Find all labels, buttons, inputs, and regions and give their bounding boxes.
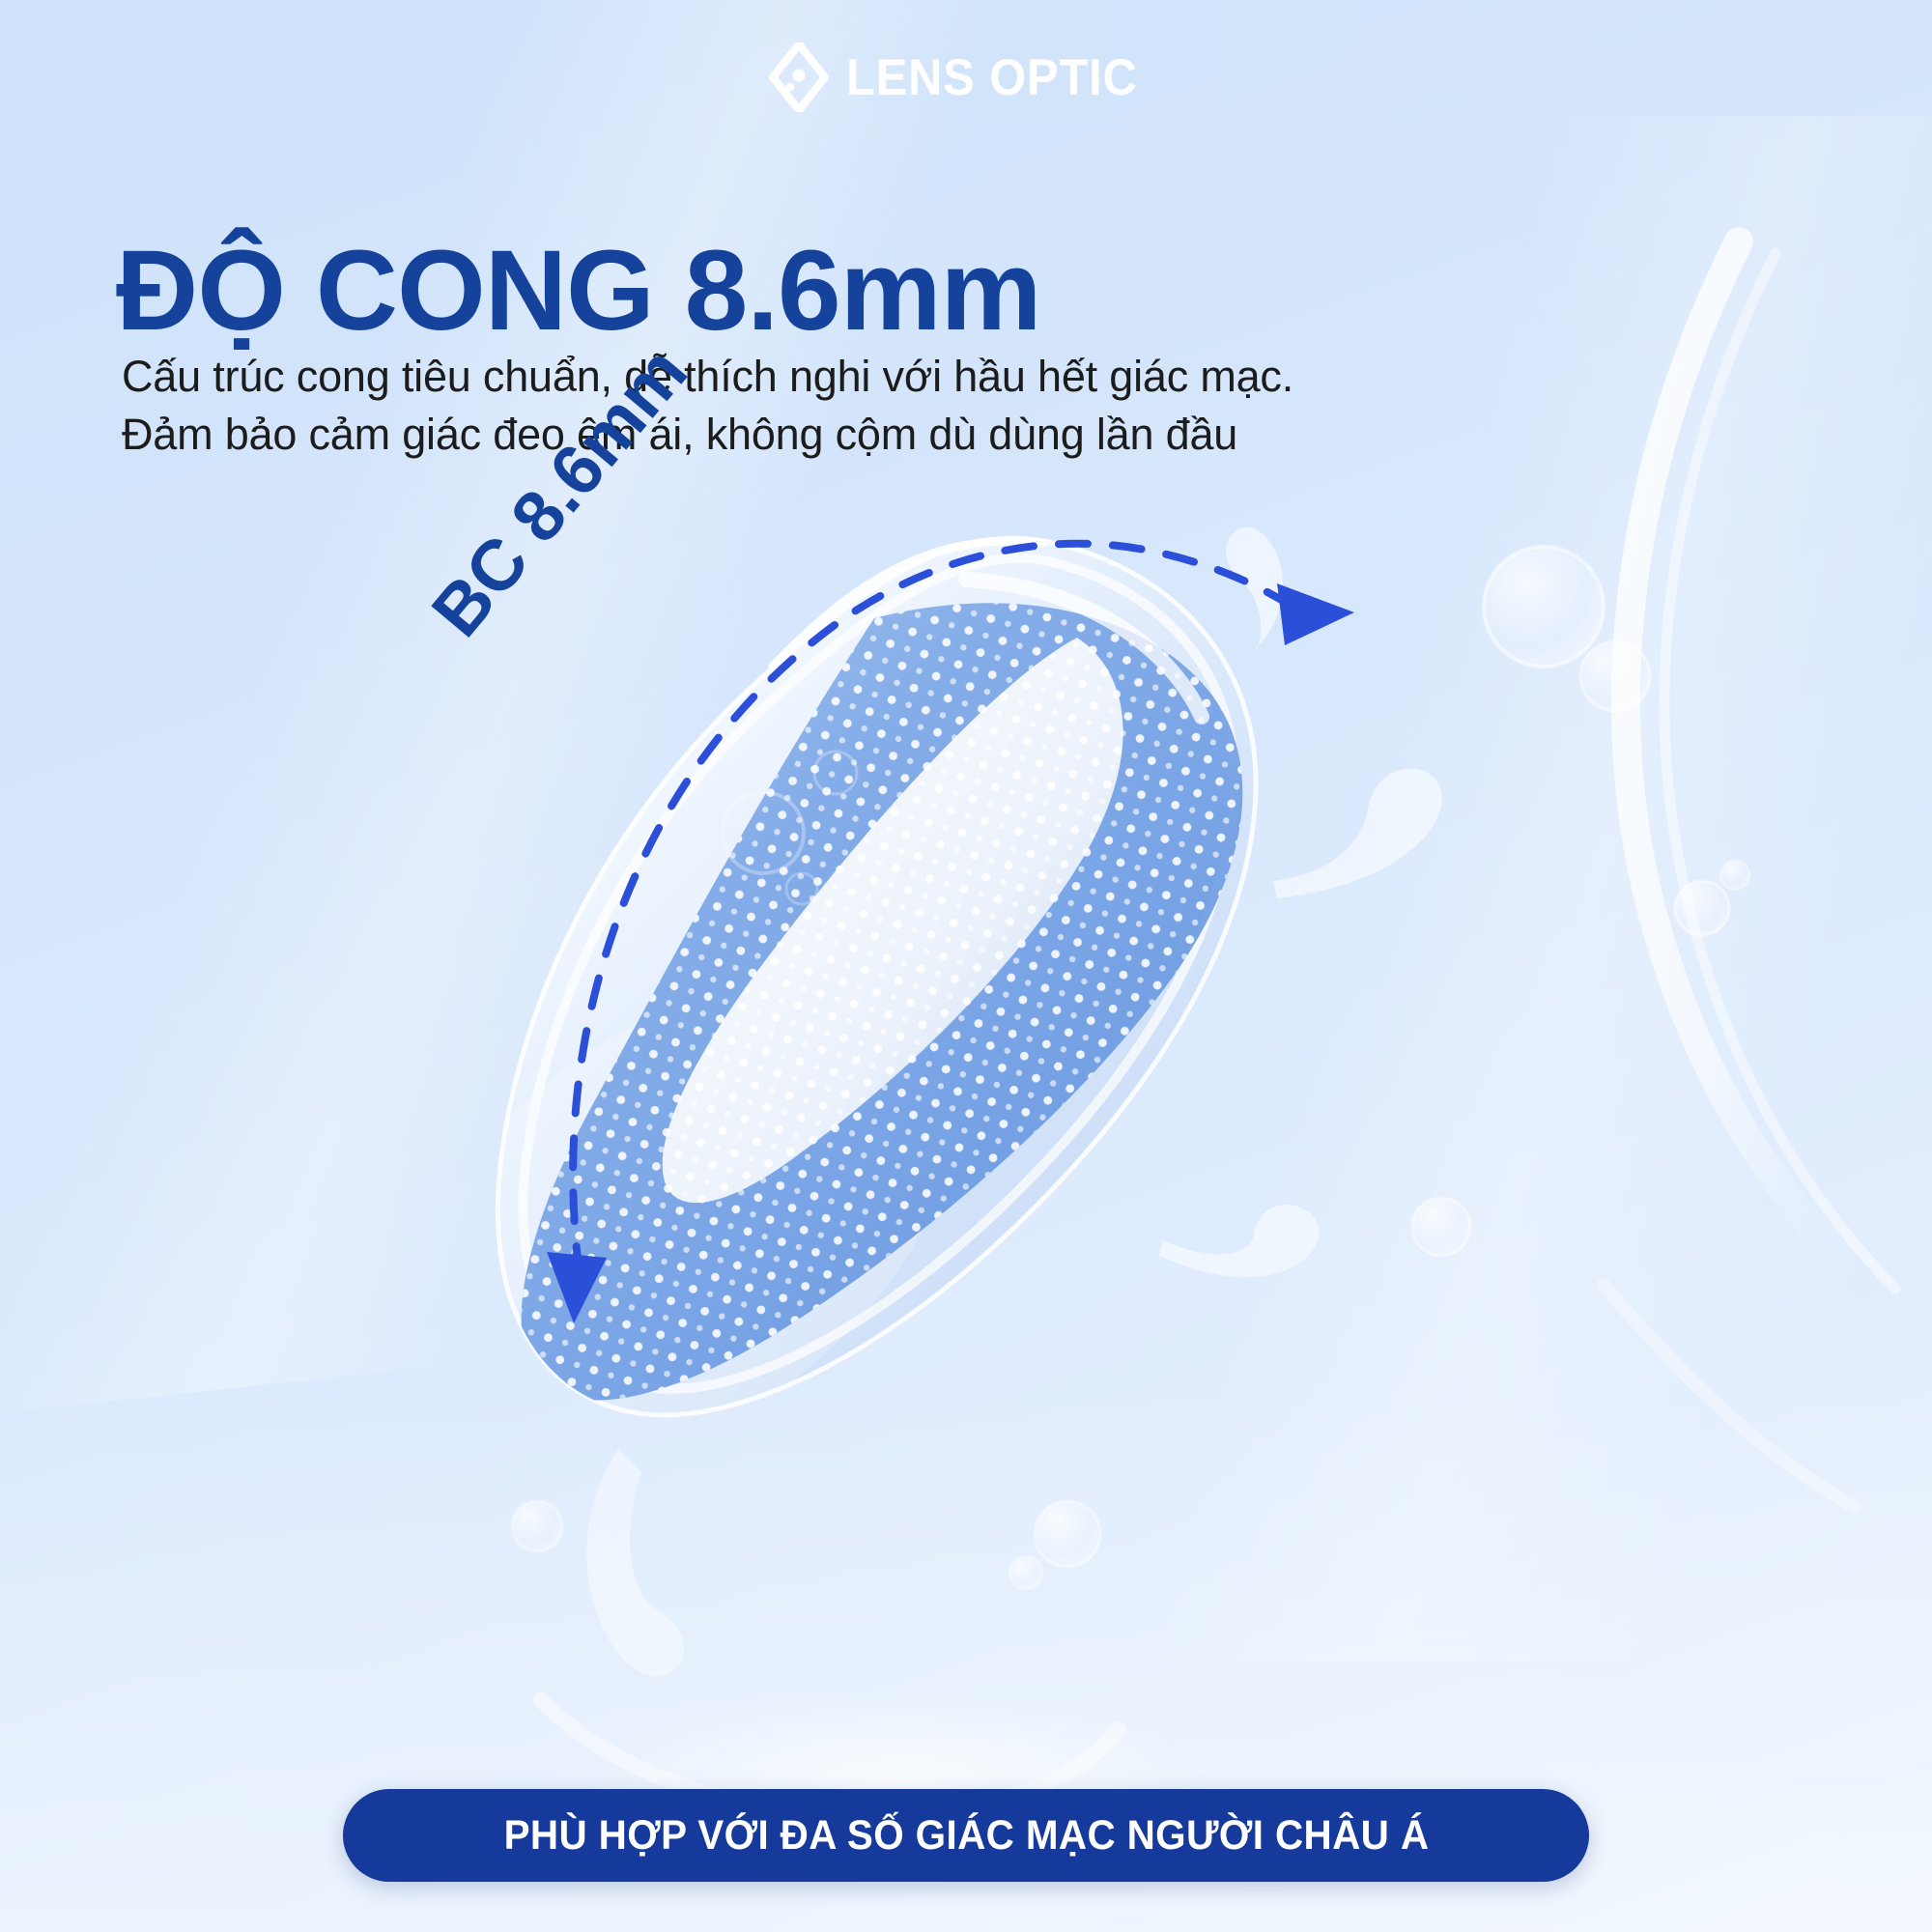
splash-tendril-top [1226, 527, 1283, 649]
lens-body [497, 538, 1256, 1415]
bubble-8 [512, 1501, 562, 1551]
lens-halftone-dots [444, 541, 1314, 1468]
bubble-3 [1675, 881, 1729, 935]
dashed-curvature-arc [573, 544, 1293, 1275]
water-ribbon-lower [1604, 1285, 1855, 1507]
lens-iris-group [444, 541, 1314, 1468]
arrow-head-icon [1277, 583, 1354, 645]
splash-tendril-bottom-left [586, 1449, 684, 1677]
poster-canvas: LENS OPTIC ĐỘ CONG 8.6mm Cấu trúc cong t… [0, 0, 1932, 1932]
bottom-banner-label: PHÙ HỢP VỚI ĐA SỐ GIÁC MẠC NGƯỜI CHÂU Á [503, 1812, 1429, 1860]
dashed-arc-tail [576, 1256, 580, 1275]
bubble-10 [814, 752, 857, 794]
brand-name: LENS OPTIC [846, 52, 1138, 103]
bubble-5 [1412, 1198, 1470, 1256]
water-ribbon-right [1626, 241, 1864, 1285]
background-light-sweep-left [0, 0, 1338, 1424]
bubble-4 [1720, 861, 1749, 890]
bubble-7 [1009, 1556, 1042, 1589]
water-ribbon-right-inner [1664, 253, 1895, 1289]
subtitle-paragraph: Cấu trúc cong tiêu chuẩn, dễ thích nghi … [122, 348, 1522, 464]
bottom-banner[interactable]: PHÙ HỢP VỚI ĐA SỐ GIÁC MẠC NGƯỜI CHÂU Á [343, 1789, 1589, 1882]
brand-header: LENS OPTIC [0, 43, 1932, 112]
page-title: ĐỘ CONG 8.6mm [116, 234, 1040, 348]
lens-sheen-lower [306, 878, 1046, 1576]
diamond-lens-logo-icon [769, 43, 829, 112]
bubble-11 [786, 873, 817, 904]
splash-tendril-bottom-right [1159, 1205, 1319, 1277]
lens-specular-streak [966, 580, 1202, 717]
lens-iris [522, 603, 1243, 1400]
lens-center-highlight [663, 638, 1123, 1203]
bubble-9 [723, 792, 804, 873]
subtitle-line-1: Cấu trúc cong tiêu chuẩn, dễ thích nghi … [122, 348, 1522, 406]
bubble-6 [1035, 1501, 1100, 1567]
arrow-down-icon [547, 1252, 607, 1323]
splash-tendril-right [1273, 768, 1442, 898]
bubble-1 [1484, 547, 1604, 667]
bubble-2 [1580, 641, 1650, 711]
subtitle-line-2: Đảm bảo cảm giác đeo êm ái, không cộm dù… [122, 406, 1522, 464]
lens-rim-light [773, 541, 1043, 667]
lens-inner-rim [523, 558, 1235, 1389]
